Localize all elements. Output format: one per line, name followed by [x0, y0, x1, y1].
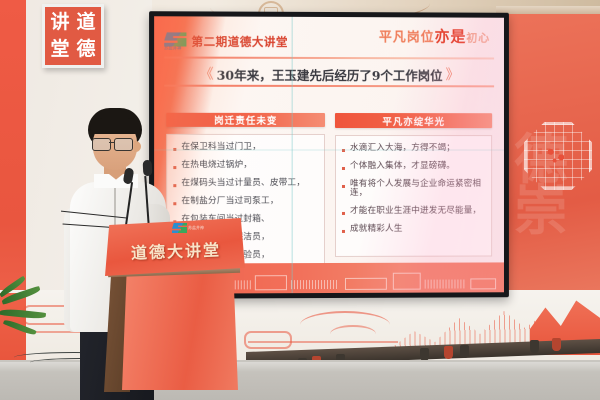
subtitle-divider: [164, 85, 494, 88]
list-item-text: 成就精彩人生: [350, 225, 403, 235]
microphone-head-icon: [143, 160, 153, 176]
bullet-dot-icon: [342, 167, 345, 170]
list-item: 个体融入集体，才显磅礴。: [342, 162, 485, 171]
podium-body: [122, 272, 238, 390]
plaque-char-3: 堂: [50, 40, 69, 59]
list-item: 在保卫科当过门卫，: [173, 143, 318, 153]
slide-slogan: 平凡岗位亦是初心: [379, 25, 490, 46]
speaker-ear: [134, 141, 141, 152]
stage-caster: [460, 345, 469, 358]
column-right: 平凡亦绽华光 水滴汇入大海，方得不竭； 个体融入集体，才显磅礴。 唯有将个人发展…: [335, 113, 492, 257]
plaque-char-1: 讲: [50, 13, 69, 32]
eyeglasses-bridge-icon: [109, 142, 114, 143]
list-item-text: 在煤码头当过计量员、皮带工，: [181, 179, 305, 189]
logo-caption: 苏盐井神: [164, 45, 181, 51]
factory-motif-icon: [345, 278, 387, 290]
subtitle-text: 30年来，王玉建先后经历了9个工作岗位: [217, 64, 443, 84]
bullet-dot-icon: [342, 185, 345, 188]
factory-motif-icon: [255, 275, 287, 290]
plaque-char-4: 德: [76, 40, 95, 59]
eyeglasses-right-lens-icon: [114, 138, 133, 151]
slide-title: 第二期道德大讲堂: [191, 33, 288, 49]
list-item-text: 才能在职业生涯中迸发无尽能量，: [350, 207, 481, 217]
backdrop-scroll-motif-icon: [244, 331, 292, 349]
bullet-dot-icon: [342, 230, 345, 233]
factory-hatch-icon: [291, 280, 337, 289]
list-item-text: 在热电烧过锅炉，: [181, 161, 252, 171]
conference-hall-scene: 讲 道 堂 德 德崇: [0, 0, 600, 400]
plaque-char-2: 道: [76, 13, 95, 32]
list-item: 水滴汇入大海，方得不竭；: [342, 144, 485, 153]
s-logo-icon: 苏盐井神: [164, 32, 186, 50]
stage-caster: [530, 340, 539, 353]
bullet-dot-icon: [342, 212, 345, 215]
list-item-text: 在保卫科当过门卫，: [181, 143, 261, 153]
column-right-body: 水滴汇入大海，方得不竭； 个体融入集体，才显磅礴。 唯有将个人发展与企业命运紧密…: [335, 135, 492, 257]
podium-logo-caption: 苏盐井神: [188, 225, 204, 231]
potted-plant: [0, 292, 56, 340]
column-left-heading: 岗迁责任未变: [166, 113, 325, 127]
list-item: 在热电烧过锅炉，: [173, 161, 318, 171]
subtitle-bracket-close: 》: [446, 64, 460, 84]
list-item: 在煤码头当过计量员、皮带工，: [173, 179, 318, 189]
list-item-text: 唯有将个人发展与企业命运紧密相连，: [350, 180, 485, 199]
stage-caster: [444, 346, 453, 359]
eyeglasses-left-lens-icon: [92, 138, 111, 151]
podium-title: 道德大讲堂: [112, 236, 241, 265]
speaker-fringe: [90, 118, 140, 134]
list-item-text: 水滴汇入大海，方得不竭；: [350, 144, 455, 153]
slogan-accent: 亦是: [435, 27, 467, 45]
list-item: 在制盐分厂当过司泵工，: [173, 197, 318, 207]
backdrop-cloud-motif-2-icon: [330, 325, 376, 343]
header-divider: [164, 56, 494, 59]
column-right-heading: 平凡亦绽华光: [335, 113, 492, 128]
octagonal-lattice-window-icon: [524, 122, 592, 190]
podium-s-logo-icon: 苏盐井神: [172, 223, 192, 237]
list-item: 成就精彩人生: [342, 225, 485, 235]
subtitle-bracket-open: 《: [199, 64, 213, 84]
slogan-prefix: 平凡岗位: [379, 30, 435, 45]
list-item-text: 在制盐分厂当过司泵工，: [181, 197, 278, 207]
factory-motif-icon: [470, 278, 496, 289]
factory-hatch-icon: [425, 279, 465, 288]
stage-caster: [552, 338, 561, 351]
bullet-dot-icon: [342, 149, 345, 152]
slogan-suffix: 初心: [466, 32, 490, 45]
list-item: 唯有将个人发展与企业命运紧密相连，: [342, 180, 485, 199]
list-item: 才能在职业生涯中迸发无尽能量，: [342, 207, 485, 217]
list-item-text: 个体融入集体，才显磅礴。: [350, 162, 455, 171]
slide-subtitle: 《 30年来，王玉建先后经历了9个工作岗位 》: [164, 63, 494, 86]
factory-motif-icon: [393, 273, 421, 290]
venue-plaque: 讲 道 堂 德: [42, 4, 104, 68]
